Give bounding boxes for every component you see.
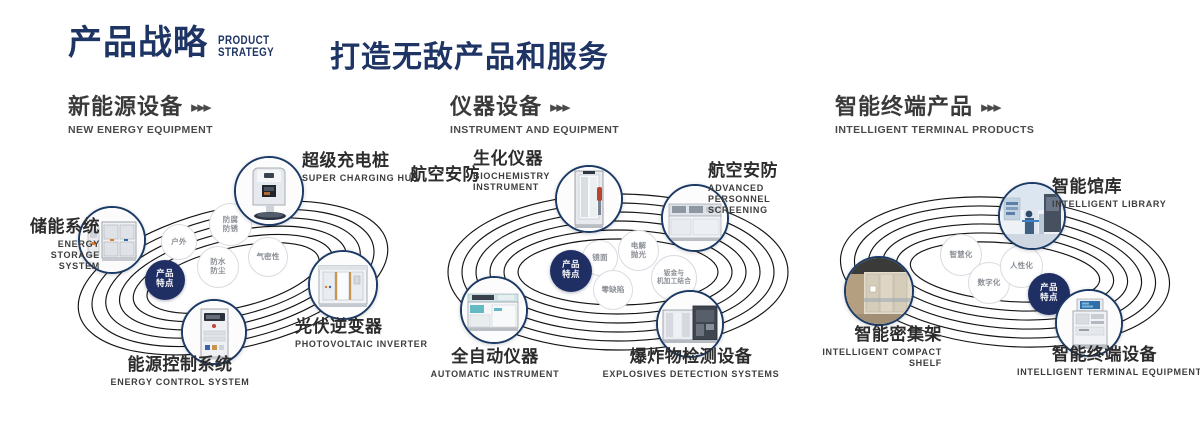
- node-label-energy-control-system: 能源控制系统 ENERGY CONTROL SYSTEM: [85, 356, 275, 388]
- section-title-en: INSTRUMENT AND EQUIPMENT: [450, 124, 619, 136]
- node-intelligent-compact-shelf[interactable]: [844, 256, 914, 326]
- feature-bubble: 电解 抛光: [618, 230, 659, 271]
- node-automatic-instrument[interactable]: [460, 276, 528, 344]
- cluster-new-energy: 户外 防腐 防锈 气密性 防水 防尘 产品 特点: [40, 150, 430, 400]
- page-title: 产品战略 PRODUCT STRATEGY: [68, 26, 286, 60]
- section-header-instrument: 仪器设备 ▸▸▸ INSTRUMENT AND EQUIPMENT: [450, 96, 619, 136]
- feature-bubble: 户外: [161, 224, 197, 260]
- node-label-automatic-instrument: 全自动仪器 AUTOMATIC INSTRUMENT: [410, 348, 580, 380]
- feature-bubble: 零缺陷: [593, 270, 633, 310]
- node-label-intelligent-library: 智能馆库 INTELLIGENT LIBRARY: [1052, 178, 1166, 210]
- section-header-intelligent: 智能终端产品 ▸▸▸ INTELLIGENT TERMINAL PRODUCTS: [835, 96, 1034, 136]
- node-label-energy-storage-system: 储能系统 ENERGY STORAGE SYSTEM: [15, 218, 100, 272]
- center-badge-product-features: 产品 特点: [145, 260, 185, 300]
- node-label-intelligent-compact-shelf: 智能密集架 INTELLIGENT COMPACT SHELF: [792, 326, 942, 369]
- page-title-en: PRODUCT STRATEGY: [218, 34, 274, 58]
- node-label-explosives-detection-systems: 爆炸物检测设备 EXPLOSIVES DETECTION SYSTEMS: [596, 348, 786, 380]
- page-title-en-line2: STRATEGY: [218, 46, 274, 58]
- chevron-right-icon: ▸▸▸: [981, 100, 999, 116]
- chevron-right-icon: ▸▸▸: [550, 100, 568, 116]
- feature-bubble: 气密性: [248, 237, 288, 277]
- chevron-right-icon: ▸▸▸: [191, 100, 209, 116]
- page-subtitle: 打造无敌产品和服务: [330, 32, 609, 76]
- node-label-intelligent-terminal-equipment: 智能终端设备 INTELLIGENT TERMINAL EQUIPMENT: [1017, 346, 1192, 378]
- center-badge-product-features: 产品 特点: [550, 250, 592, 292]
- control-cabinet-icon: [183, 301, 245, 363]
- security-scanner-icon: [557, 167, 621, 231]
- section-header-new-energy: 新能源设备 ▸▸▸ NEW ENERGY EQUIPMENT: [68, 96, 213, 136]
- node-biochemistry-instrument[interactable]: [555, 165, 623, 233]
- node-label-advanced-personnel-screening: 航空安防 ADVANCED PERSONNEL SCREENING: [708, 162, 804, 216]
- infographic-page: 产品战略 PRODUCT STRATEGY 打造无敌产品和服务 新能源设备 ▸▸…: [0, 0, 1200, 422]
- pv-inverter-cabinet-icon: [310, 252, 376, 318]
- node-label-super-charging-hub: 超级充电桩 SUPER CHARGING HUB: [302, 152, 419, 184]
- node-label-photovoltaic-inverter: 光伏逆变器 PHOTOVOLTAIC INVERTER: [295, 318, 428, 350]
- page-title-cn: 产品战略: [68, 26, 208, 60]
- cluster-instrument: 镜面 电解 抛光 零缺陷 钣金与 机加工结合 产品 特点 航空安防: [418, 150, 818, 400]
- node-label-biochemistry-instrument: 生化仪器 BIOCHEMISTRY INSTRUMENT: [473, 150, 545, 193]
- cluster-intelligent-terminal: 智慧化 数字化 人性化 产品 特点: [812, 150, 1200, 400]
- node-photovoltaic-inverter[interactable]: [308, 250, 378, 320]
- section-title-cn: 智能终端产品: [835, 96, 973, 119]
- feature-bubble: 防水 防尘: [197, 246, 239, 288]
- node-super-charging-hub[interactable]: [234, 156, 304, 226]
- section-title-en: NEW ENERGY EQUIPMENT: [68, 124, 213, 136]
- node-label-aviation-security-tag: 航空安防: [410, 166, 480, 185]
- charging-pile-icon: [236, 158, 302, 224]
- section-title-cn: 仪器设备: [450, 96, 542, 119]
- section-title-cn: 新能源设备: [68, 96, 183, 119]
- automatic-analyzer-icon: [462, 278, 526, 342]
- section-title-en: INTELLIGENT TERMINAL PRODUCTS: [835, 124, 1034, 136]
- compact-shelving-icon: [846, 258, 912, 324]
